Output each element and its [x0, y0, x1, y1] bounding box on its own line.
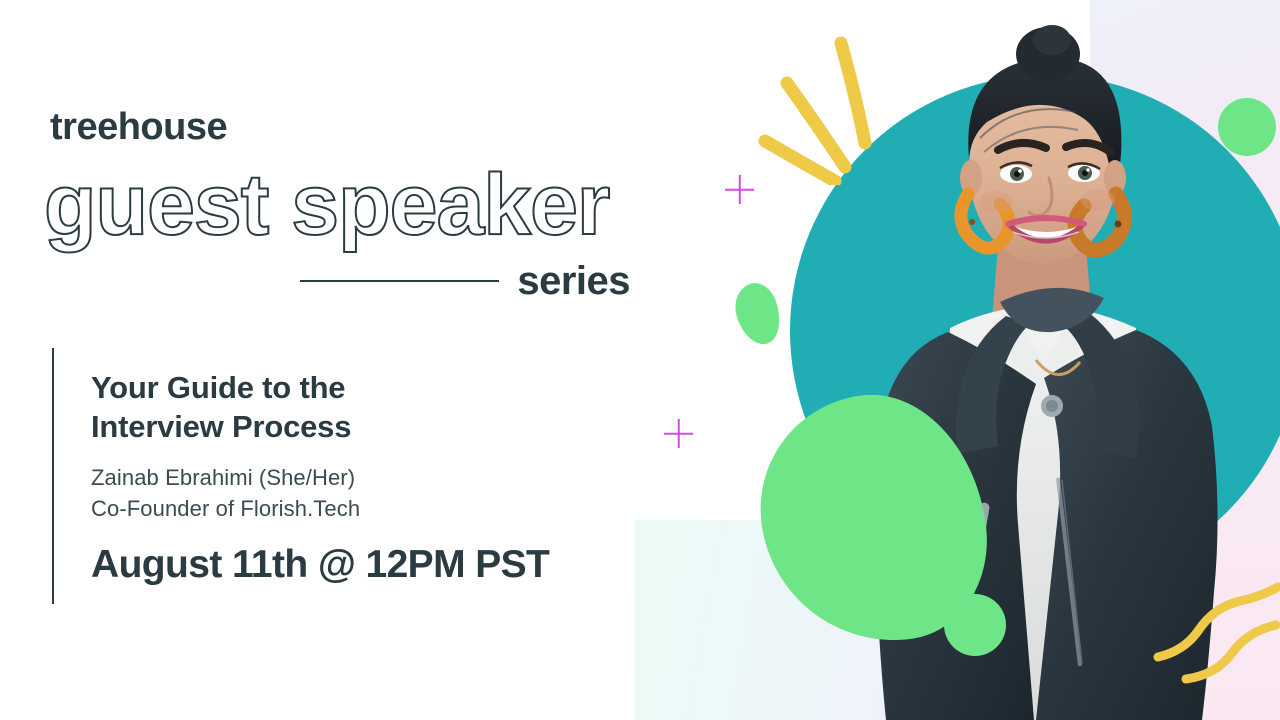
magenta-plus-icon-bottom — [664, 419, 693, 448]
series-divider-rule — [300, 280, 499, 282]
promo-slide: treehouse guest speaker series Your Guid… — [0, 0, 1280, 720]
series-row: series — [300, 258, 630, 304]
green-circle-bottom — [944, 594, 1006, 656]
speaker-role: Co-Founder of Florish.Tech — [91, 493, 611, 524]
event-details: Your Guide to the Interview Process Zain… — [91, 368, 611, 586]
treehouse-wordmark: treehouse — [50, 108, 227, 146]
talk-title-line-1: Your Guide to the — [91, 368, 611, 407]
detail-vertical-rule — [52, 348, 54, 604]
yellow-sparkle-strokes — [735, 25, 905, 185]
yellow-squiggle-lines — [1150, 575, 1280, 685]
text-column: treehouse guest speaker series Your Guid… — [0, 0, 660, 720]
talk-title-line-2: Interview Process — [91, 407, 611, 446]
series-label: series — [517, 261, 630, 301]
event-date-time: August 11th @ 12PM PST — [91, 545, 611, 586]
headline-guest-speaker: guest speaker — [44, 160, 609, 250]
talk-title: Your Guide to the Interview Process — [91, 368, 611, 446]
green-bean-blob — [728, 278, 787, 350]
speaker-name: Zainab Ebrahimi (She/Her) — [91, 462, 611, 493]
